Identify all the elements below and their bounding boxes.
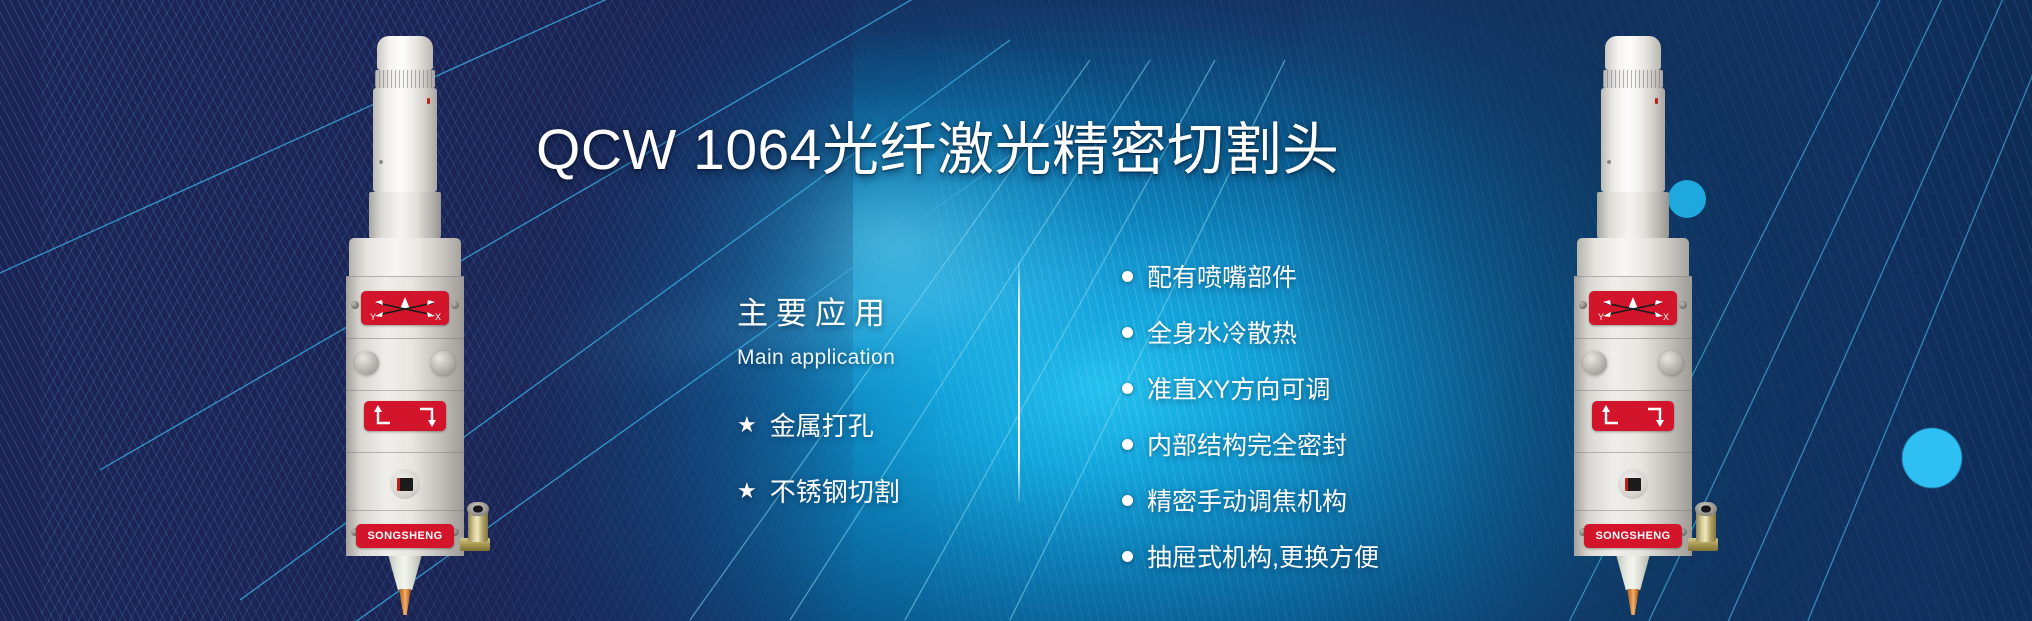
head-section-window [1574, 452, 1692, 510]
head-section-window [346, 452, 464, 510]
adjust-knob-right [1659, 351, 1683, 375]
screw-icon [379, 160, 383, 164]
direction-arrow-label [1592, 401, 1674, 431]
page-title: QCW 1064光纤激光精密切割头 [536, 104, 1339, 186]
head-body: Y X [1574, 276, 1692, 556]
screw-icon [351, 301, 359, 309]
application-block: 主要应用 Main application ★ 金属打孔 ★ 不锈钢切割 [737, 288, 900, 538]
bidirectional-arrow-icon [364, 401, 446, 431]
head-body: Y X [346, 276, 464, 556]
bullet-dot-icon [1122, 439, 1133, 450]
screw-icon [451, 301, 459, 309]
inspection-window-icon [1618, 469, 1648, 499]
list-item: 配有喷嘴部件 [1122, 258, 1379, 294]
star-icon: ★ [737, 414, 757, 436]
head-section-arrows [346, 390, 464, 452]
direction-arrow-label [364, 401, 446, 431]
xy-axis-icon: Y X [361, 291, 449, 325]
laser-cutting-head-right: Y X [1558, 36, 1708, 615]
nozzle-cone [1615, 556, 1651, 590]
svg-text:X: X [435, 312, 441, 322]
xy-axis-label: Y X [361, 291, 449, 325]
head-knurled-ring [375, 70, 435, 88]
bullet-dot-icon [1122, 495, 1133, 506]
light-ray-lines [0, 0, 2032, 621]
list-item: ★ 不锈钢切割 [737, 472, 900, 509]
feature-item-label: 抽屉式机构,更换方便 [1147, 538, 1379, 574]
brand-label-text: SONGSHENG [367, 530, 442, 542]
gas-fitting [1688, 508, 1718, 562]
head-section-knobs [346, 338, 464, 390]
product-banner: QCW 1064光纤激光精密切割头 主要应用 Main application … [0, 0, 2032, 621]
nozzle-tip [398, 589, 412, 615]
svg-text:Y: Y [1598, 312, 1604, 322]
head-upper-tube [1601, 88, 1665, 192]
head-section-xy: Y X [346, 276, 464, 338]
feature-item-label: 准直XY方向可调 [1147, 370, 1330, 406]
brand-label: SONGSHENG [356, 524, 454, 548]
bullet-dot-icon [1122, 383, 1133, 394]
fitting-port-icon [467, 502, 489, 516]
star-icon: ★ [737, 480, 757, 502]
svg-text:Y: Y [370, 312, 376, 322]
feature-list: 配有喷嘴部件 全身水冷散热 准直XY方向可调 内部结构完全密封 精密手动调焦机构… [1122, 258, 1379, 594]
feature-item-label: 配有喷嘴部件 [1147, 258, 1297, 294]
fitting-port-icon [1695, 502, 1717, 516]
xy-axis-icon: Y X [1589, 291, 1677, 325]
list-item: 精密手动调焦机构 [1122, 482, 1379, 518]
adjust-knob-right [431, 351, 455, 375]
list-item: 抽屉式机构,更换方便 [1122, 538, 1379, 574]
xy-axis-label: Y X [1589, 291, 1677, 325]
head-upper-tube [373, 88, 437, 192]
svg-text:X: X [1663, 312, 1669, 322]
screw-icon [1607, 160, 1611, 164]
application-heading-cn: 主要应用 [737, 288, 900, 333]
head-section-xy: Y X [1574, 276, 1692, 338]
head-collar [369, 192, 441, 238]
head-section-knobs [1574, 338, 1692, 390]
feature-item-label: 精密手动调焦机构 [1147, 482, 1347, 518]
application-heading-en: Main application [737, 346, 900, 370]
screw-icon [1579, 301, 1587, 309]
application-list: ★ 金属打孔 ★ 不锈钢切割 [737, 406, 900, 509]
gas-fitting [460, 508, 490, 562]
head-section-brand: SONGSHENG [1574, 510, 1692, 554]
adjust-knob-left [1583, 351, 1607, 375]
laser-cutting-head-left: Y X [330, 36, 480, 615]
feature-item-label: 全身水冷散热 [1147, 314, 1297, 350]
bullet-dot-icon [1122, 551, 1133, 562]
application-item-label: 不锈钢切割 [770, 472, 900, 509]
feature-item-label: 内部结构完全密封 [1147, 426, 1347, 462]
nozzle-cone [387, 556, 423, 590]
brand-label-text: SONGSHENG [1595, 530, 1670, 542]
head-cap [377, 36, 433, 70]
application-item-label: 金属打孔 [770, 406, 874, 443]
vertical-divider [1018, 262, 1020, 502]
nozzle-tip [1626, 589, 1640, 615]
list-item: 准直XY方向可调 [1122, 370, 1379, 406]
head-collar [1597, 192, 1669, 238]
head-section-brand: SONGSHENG [346, 510, 464, 554]
list-item: 全身水冷散热 [1122, 314, 1379, 350]
head-section-arrows [1574, 390, 1692, 452]
bullet-dot-icon [1122, 327, 1133, 338]
list-item: 内部结构完全密封 [1122, 426, 1379, 462]
brand-label: SONGSHENG [1584, 524, 1682, 548]
list-item: ★ 金属打孔 [737, 406, 900, 443]
head-shoulder [349, 238, 461, 276]
head-cap [1605, 36, 1661, 70]
decorative-circle-large [1902, 428, 1962, 488]
red-indicator-dot-icon [427, 98, 430, 104]
red-indicator-dot-icon [1655, 98, 1658, 104]
adjust-knob-left [355, 351, 379, 375]
head-shoulder [1577, 238, 1689, 276]
screw-icon [1679, 301, 1687, 309]
inspection-window-icon [390, 469, 420, 499]
head-knurled-ring [1603, 70, 1663, 88]
bidirectional-arrow-icon [1592, 401, 1674, 431]
bullet-dot-icon [1122, 271, 1133, 282]
